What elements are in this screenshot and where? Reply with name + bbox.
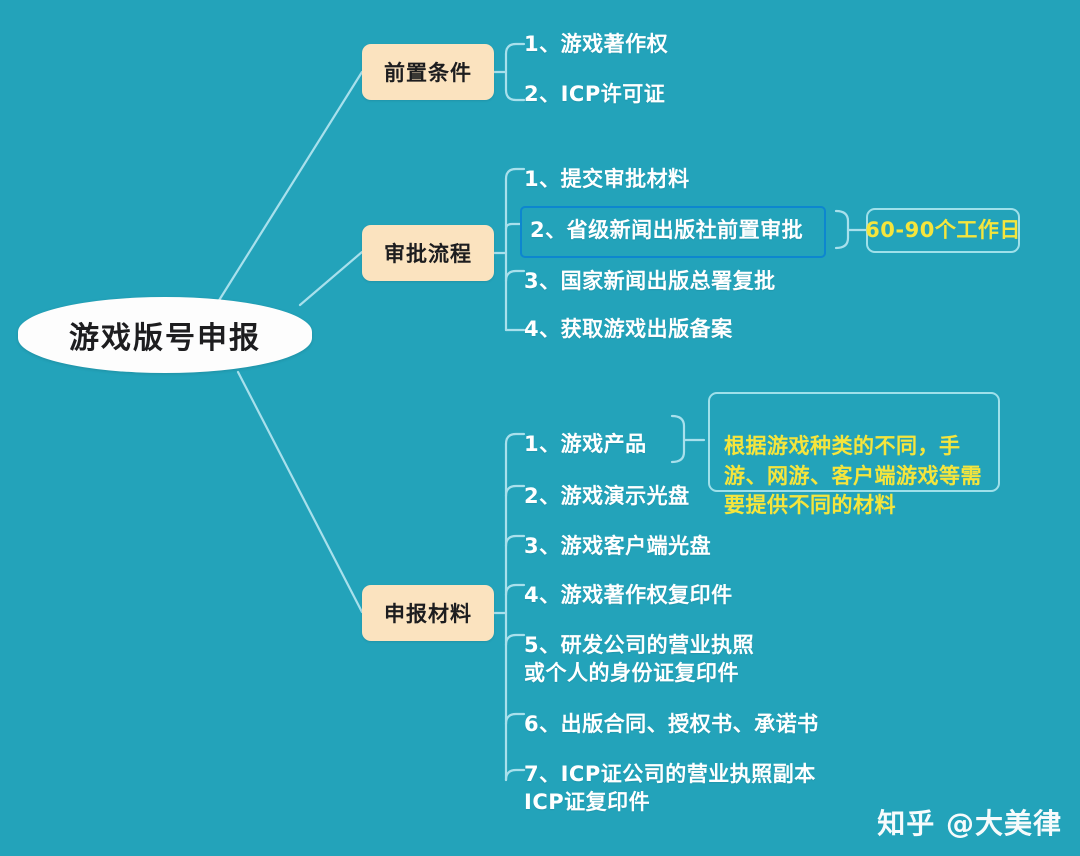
wire-root-to-materials [238,372,362,612]
category-node-approval-process[interactable]: 审批流程 [362,225,494,281]
category-label-application-materials: 申报材料 [384,598,472,628]
wire-approval-item-1 [506,169,524,179]
wire-materials-item-6 [506,714,524,724]
category-node-application-materials[interactable]: 申报材料 [362,585,494,641]
wire-approval-item-2 [506,224,520,229]
wire-prereq-item-1 [506,44,524,54]
category-label-prerequisites: 前置条件 [384,57,472,87]
wire-materials-item-7 [506,770,524,780]
mindmap-canvas: 游戏版号申报 前置条件 1、游戏著作权 2、ICP许可证 审批流程 1、提交审批… [0,0,1080,856]
leaf-materials-2[interactable]: 2、游戏演示光盘 [524,483,690,511]
wire-materials-item-4 [506,585,524,595]
root-node-label: 游戏版号申报 [69,313,261,357]
note-product-types-text: 根据游戏种类的不同，手 游、网游、客户端游戏等需 要提供不同的材料 [724,434,982,517]
leaf-materials-1[interactable]: 1、游戏产品 [524,431,647,459]
wire-product-to-note [672,416,684,462]
leaf-approval-3[interactable]: 3、国家新闻出版总署复批 [524,268,776,296]
leaf-materials-5[interactable]: 5、研发公司的营业执照 或个人的身份证复印件 [524,632,754,687]
leaf-materials-7[interactable]: 7、ICP证公司的营业执照副本 ICP证复印件 [524,761,816,816]
leaf-materials-4[interactable]: 4、游戏著作权复印件 [524,582,733,610]
wire-highlight-to-duration-note [836,211,848,248]
leaf-materials-6[interactable]: 6、出版合同、授权书、承诺书 [524,711,819,739]
wire-approval-item-3 [506,271,524,281]
wire-root-to-prerequisites [218,72,362,302]
leaf-materials-3[interactable]: 3、游戏客户端光盘 [524,533,711,561]
leaf-approval-1[interactable]: 1、提交审批材料 [524,166,690,194]
note-duration-text: 60-90个工作日 [865,216,1021,245]
wire-prereq-item-2 [506,90,524,100]
leaf-prerequisites-1[interactable]: 1、游戏著作权 [524,31,668,59]
watermark: 知乎 @大美律 [877,802,1062,842]
leaf-approval-4[interactable]: 4、获取游戏出版备案 [524,316,733,344]
category-node-prerequisites[interactable]: 前置条件 [362,44,494,100]
wire-root-to-approval [300,252,362,305]
root-node[interactable]: 游戏版号申报 [18,297,312,373]
note-duration[interactable]: 60-90个工作日 [866,208,1020,253]
wire-materials-item-3 [506,536,524,546]
wire-materials-item-2 [506,486,524,496]
category-label-approval-process: 审批流程 [384,238,472,268]
note-product-types[interactable]: 根据游戏种类的不同，手 游、网游、客户端游戏等需 要提供不同的材料 [708,392,1000,492]
leaf-prerequisites-2[interactable]: 2、ICP许可证 [524,81,665,109]
wire-materials-item-1 [506,434,524,444]
wire-materials-item-5 [506,635,524,645]
leaf-approval-2[interactable]: 2、省级新闻出版社前置审批 [530,217,803,245]
